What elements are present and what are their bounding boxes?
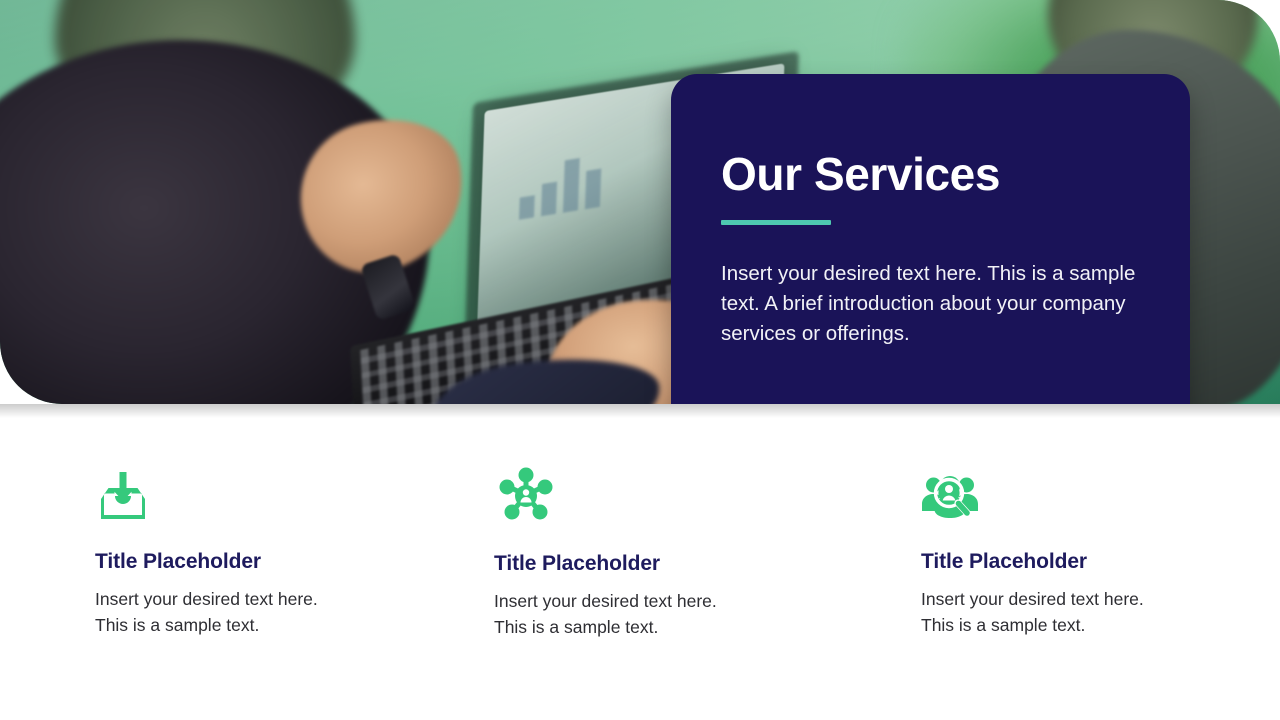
page-title: Our Services xyxy=(721,150,1190,198)
slide: Our Services Insert your desired text he… xyxy=(0,0,1280,720)
service-card-1[interactable]: Title Placeholder Insert your desired te… xyxy=(0,404,425,720)
service-card-title: Title Placeholder xyxy=(95,550,425,574)
service-card-title: Title Placeholder xyxy=(494,552,852,576)
people-search-icon xyxy=(921,466,1280,524)
service-card-body: Insert your desired text here. This is a… xyxy=(494,588,749,641)
service-card-title: Title Placeholder xyxy=(921,550,1280,574)
service-card-body: Insert your desired text here. This is a… xyxy=(95,586,350,639)
download-inbox-icon xyxy=(95,466,425,524)
service-card-3[interactable]: Title Placeholder Insert your desired te… xyxy=(852,404,1280,720)
network-hub-user-icon xyxy=(497,466,852,524)
title-accent-rule xyxy=(721,220,831,225)
title-card: Our Services Insert your desired text he… xyxy=(671,74,1190,443)
title-card-body: Insert your desired text here. This is a… xyxy=(721,259,1141,348)
service-card-2[interactable]: Title Placeholder Insert your desired te… xyxy=(425,404,852,720)
service-card-body: Insert your desired text here. This is a… xyxy=(921,586,1176,639)
service-cards: Title Placeholder Insert your desired te… xyxy=(0,404,1280,720)
